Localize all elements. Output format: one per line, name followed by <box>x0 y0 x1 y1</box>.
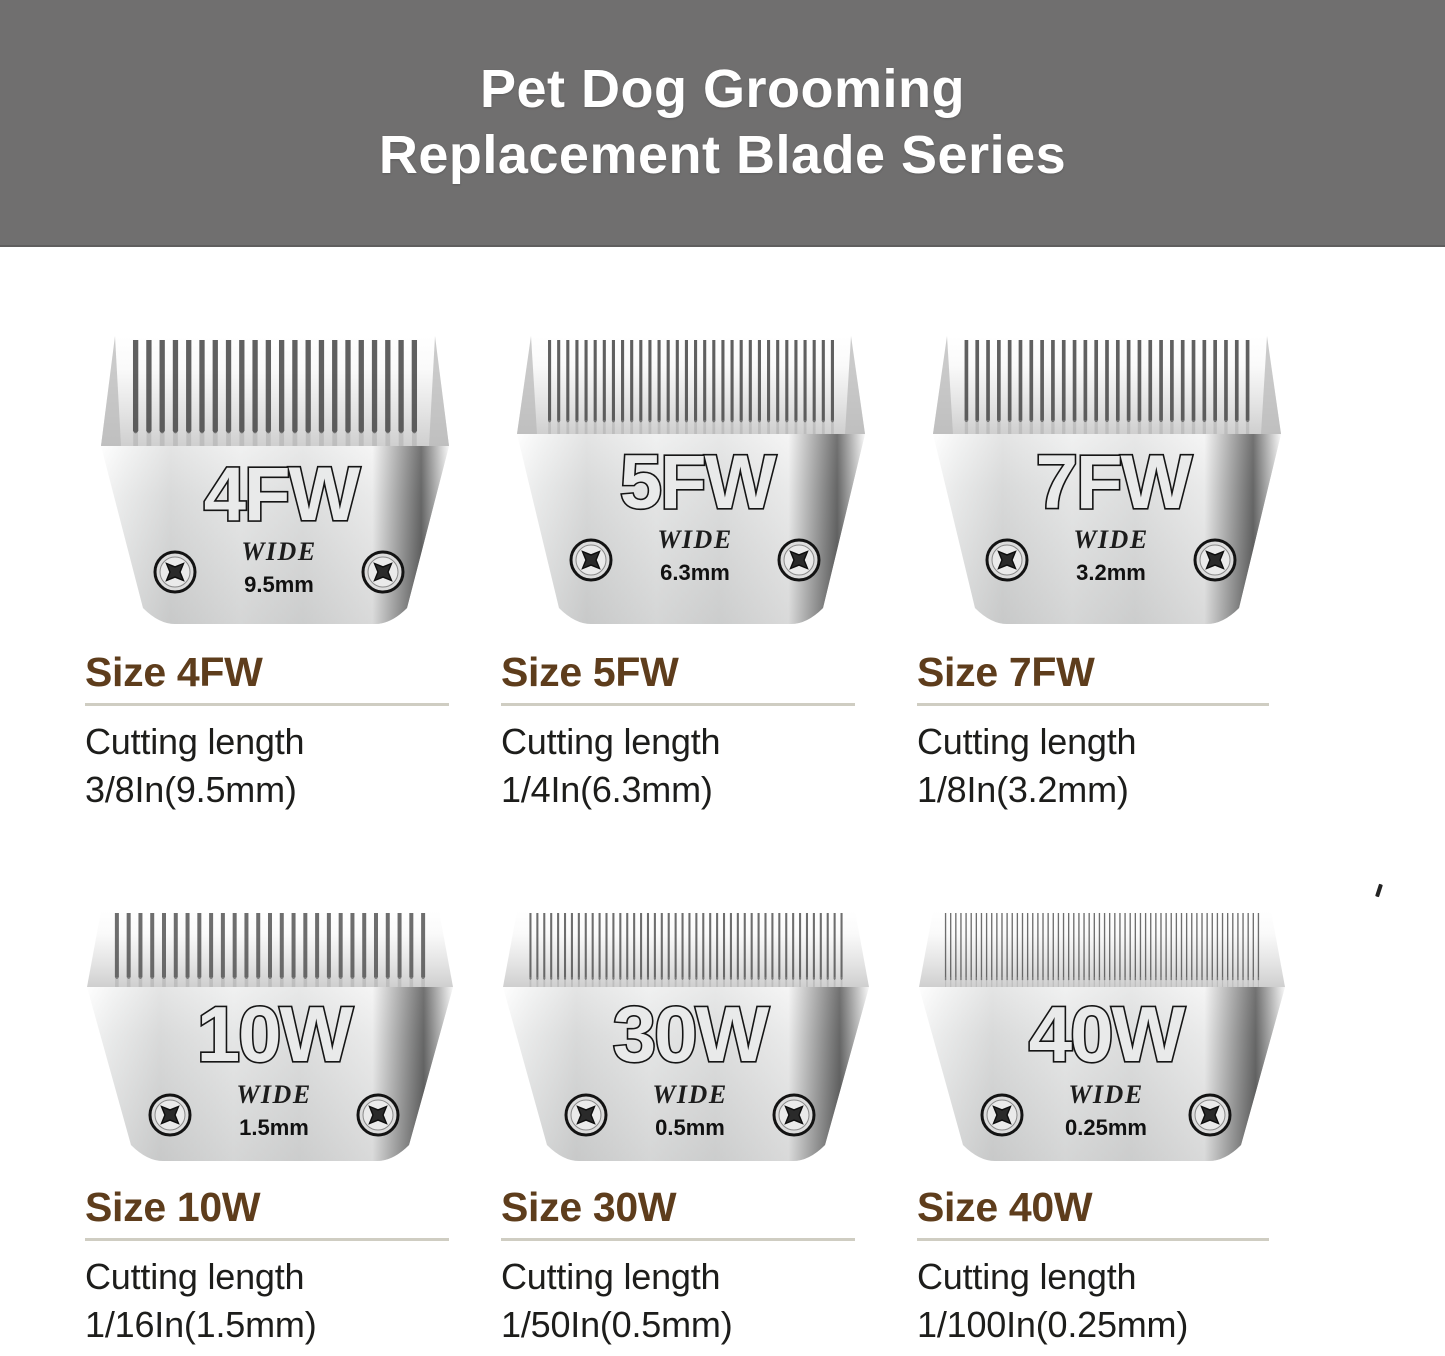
blade-image-5fw: 5FWWIDE6.3mm <box>501 332 911 642</box>
blade-info-7fw: Size 7FW Cutting length 1/8In(3.2mm) <box>917 642 1327 814</box>
blade-image-10w: 10WWIDE1.5mm <box>85 907 495 1177</box>
header-banner: Pet Dog Grooming Replacement Blade Serie… <box>0 0 1445 247</box>
svg-text:3.2mm: 3.2mm <box>1076 560 1146 585</box>
page-title-line-1: Pet Dog Grooming <box>480 57 965 123</box>
svg-text:WIDE: WIDE <box>1068 1080 1143 1109</box>
size-title-30w: Size 30W <box>501 1185 911 1231</box>
svg-text:WIDE: WIDE <box>241 537 316 566</box>
divider-rule <box>85 703 449 706</box>
svg-text:0.25mm: 0.25mm <box>1065 1115 1147 1140</box>
divider-rule <box>917 703 1269 706</box>
blade-card-40w: 40WWIDE0.25mm Size 40W Cutting length 1/… <box>917 907 1327 1356</box>
blade-info-4fw: Size 4FW Cutting length 3/8In(9.5mm) <box>85 642 495 814</box>
cutting-length-value-40w: 1/100In(0.25mm) <box>917 1301 1327 1349</box>
svg-text:5FW: 5FW <box>620 440 777 525</box>
divider-rule <box>85 1238 449 1241</box>
cutting-length-value-4fw: 3/8In(9.5mm) <box>85 766 495 814</box>
cutting-length-value-30w: 1/50In(0.5mm) <box>501 1301 911 1349</box>
svg-text:9.5mm: 9.5mm <box>244 572 314 597</box>
blade-card-4fw: 4FWWIDE9.5mm Size 4FW Cutting length 3/8… <box>85 332 495 922</box>
svg-text:7FW: 7FW <box>1036 440 1193 525</box>
blade-card-30w: 30WWIDE0.5mm Size 30W Cutting length 1/5… <box>501 907 911 1356</box>
svg-text:30W: 30W <box>613 990 770 1078</box>
blade-image-7fw: 7FWWIDE3.2mm <box>917 332 1327 642</box>
svg-text:WIDE: WIDE <box>1073 525 1148 554</box>
blade-card-7fw: 7FWWIDE3.2mm Size 7FW Cutting length 1/8… <box>917 332 1327 922</box>
cutting-length-label-40w: Cutting length <box>917 1253 1327 1301</box>
svg-text:0.5mm: 0.5mm <box>655 1115 725 1140</box>
svg-text:WIDE: WIDE <box>236 1080 311 1109</box>
svg-text:6.3mm: 6.3mm <box>660 560 730 585</box>
svg-text:4FW: 4FW <box>204 452 361 537</box>
svg-text:40W: 40W <box>1029 990 1186 1078</box>
blade-info-40w: Size 40W Cutting length 1/100In(0.25mm) <box>917 1177 1327 1349</box>
divider-rule <box>501 703 855 706</box>
size-title-10w: Size 10W <box>85 1185 495 1231</box>
cutting-length-label-5fw: Cutting length <box>501 718 911 766</box>
svg-text:10W: 10W <box>197 990 354 1078</box>
blade-card-5fw: 5FWWIDE6.3mm Size 5FW Cutting length 1/4… <box>501 332 911 922</box>
cutting-length-label-10w: Cutting length <box>85 1253 495 1301</box>
blade-grid: 4FWWIDE9.5mm Size 4FW Cutting length 3/8… <box>0 247 1445 1356</box>
blade-info-30w: Size 30W Cutting length 1/50In(0.5mm) <box>501 1177 911 1349</box>
cutting-length-label-30w: Cutting length <box>501 1253 911 1301</box>
svg-text:WIDE: WIDE <box>657 525 732 554</box>
blade-row-bottom: 10WWIDE1.5mm Size 10W Cutting length 1/1… <box>0 907 1445 1356</box>
blade-image-4fw: 4FWWIDE9.5mm <box>85 332 495 642</box>
cutting-length-label-7fw: Cutting length <box>917 718 1327 766</box>
blade-row-top: 4FWWIDE9.5mm Size 4FW Cutting length 3/8… <box>0 332 1445 922</box>
blade-card-10w: 10WWIDE1.5mm Size 10W Cutting length 1/1… <box>85 907 495 1356</box>
page-title-line-2: Replacement Blade Series <box>379 123 1066 189</box>
divider-rule <box>501 1238 855 1241</box>
svg-text:1.5mm: 1.5mm <box>239 1115 309 1140</box>
blade-info-5fw: Size 5FW Cutting length 1/4In(6.3mm) <box>501 642 911 814</box>
cutting-length-value-7fw: 1/8In(3.2mm) <box>917 766 1327 814</box>
svg-text:WIDE: WIDE <box>652 1080 727 1109</box>
blade-image-40w: 40WWIDE0.25mm <box>917 907 1327 1177</box>
size-title-4fw: Size 4FW <box>85 650 495 696</box>
cutting-length-value-5fw: 1/4In(6.3mm) <box>501 766 911 814</box>
cutting-length-label-4fw: Cutting length <box>85 718 495 766</box>
size-title-5fw: Size 5FW <box>501 650 911 696</box>
cutting-length-value-10w: 1/16In(1.5mm) <box>85 1301 495 1349</box>
divider-rule <box>917 1238 1269 1241</box>
blade-info-10w: Size 10W Cutting length 1/16In(1.5mm) <box>85 1177 495 1349</box>
size-title-7fw: Size 7FW <box>917 650 1327 696</box>
blade-image-30w: 30WWIDE0.5mm <box>501 907 911 1177</box>
size-title-40w: Size 40W <box>917 1185 1327 1231</box>
